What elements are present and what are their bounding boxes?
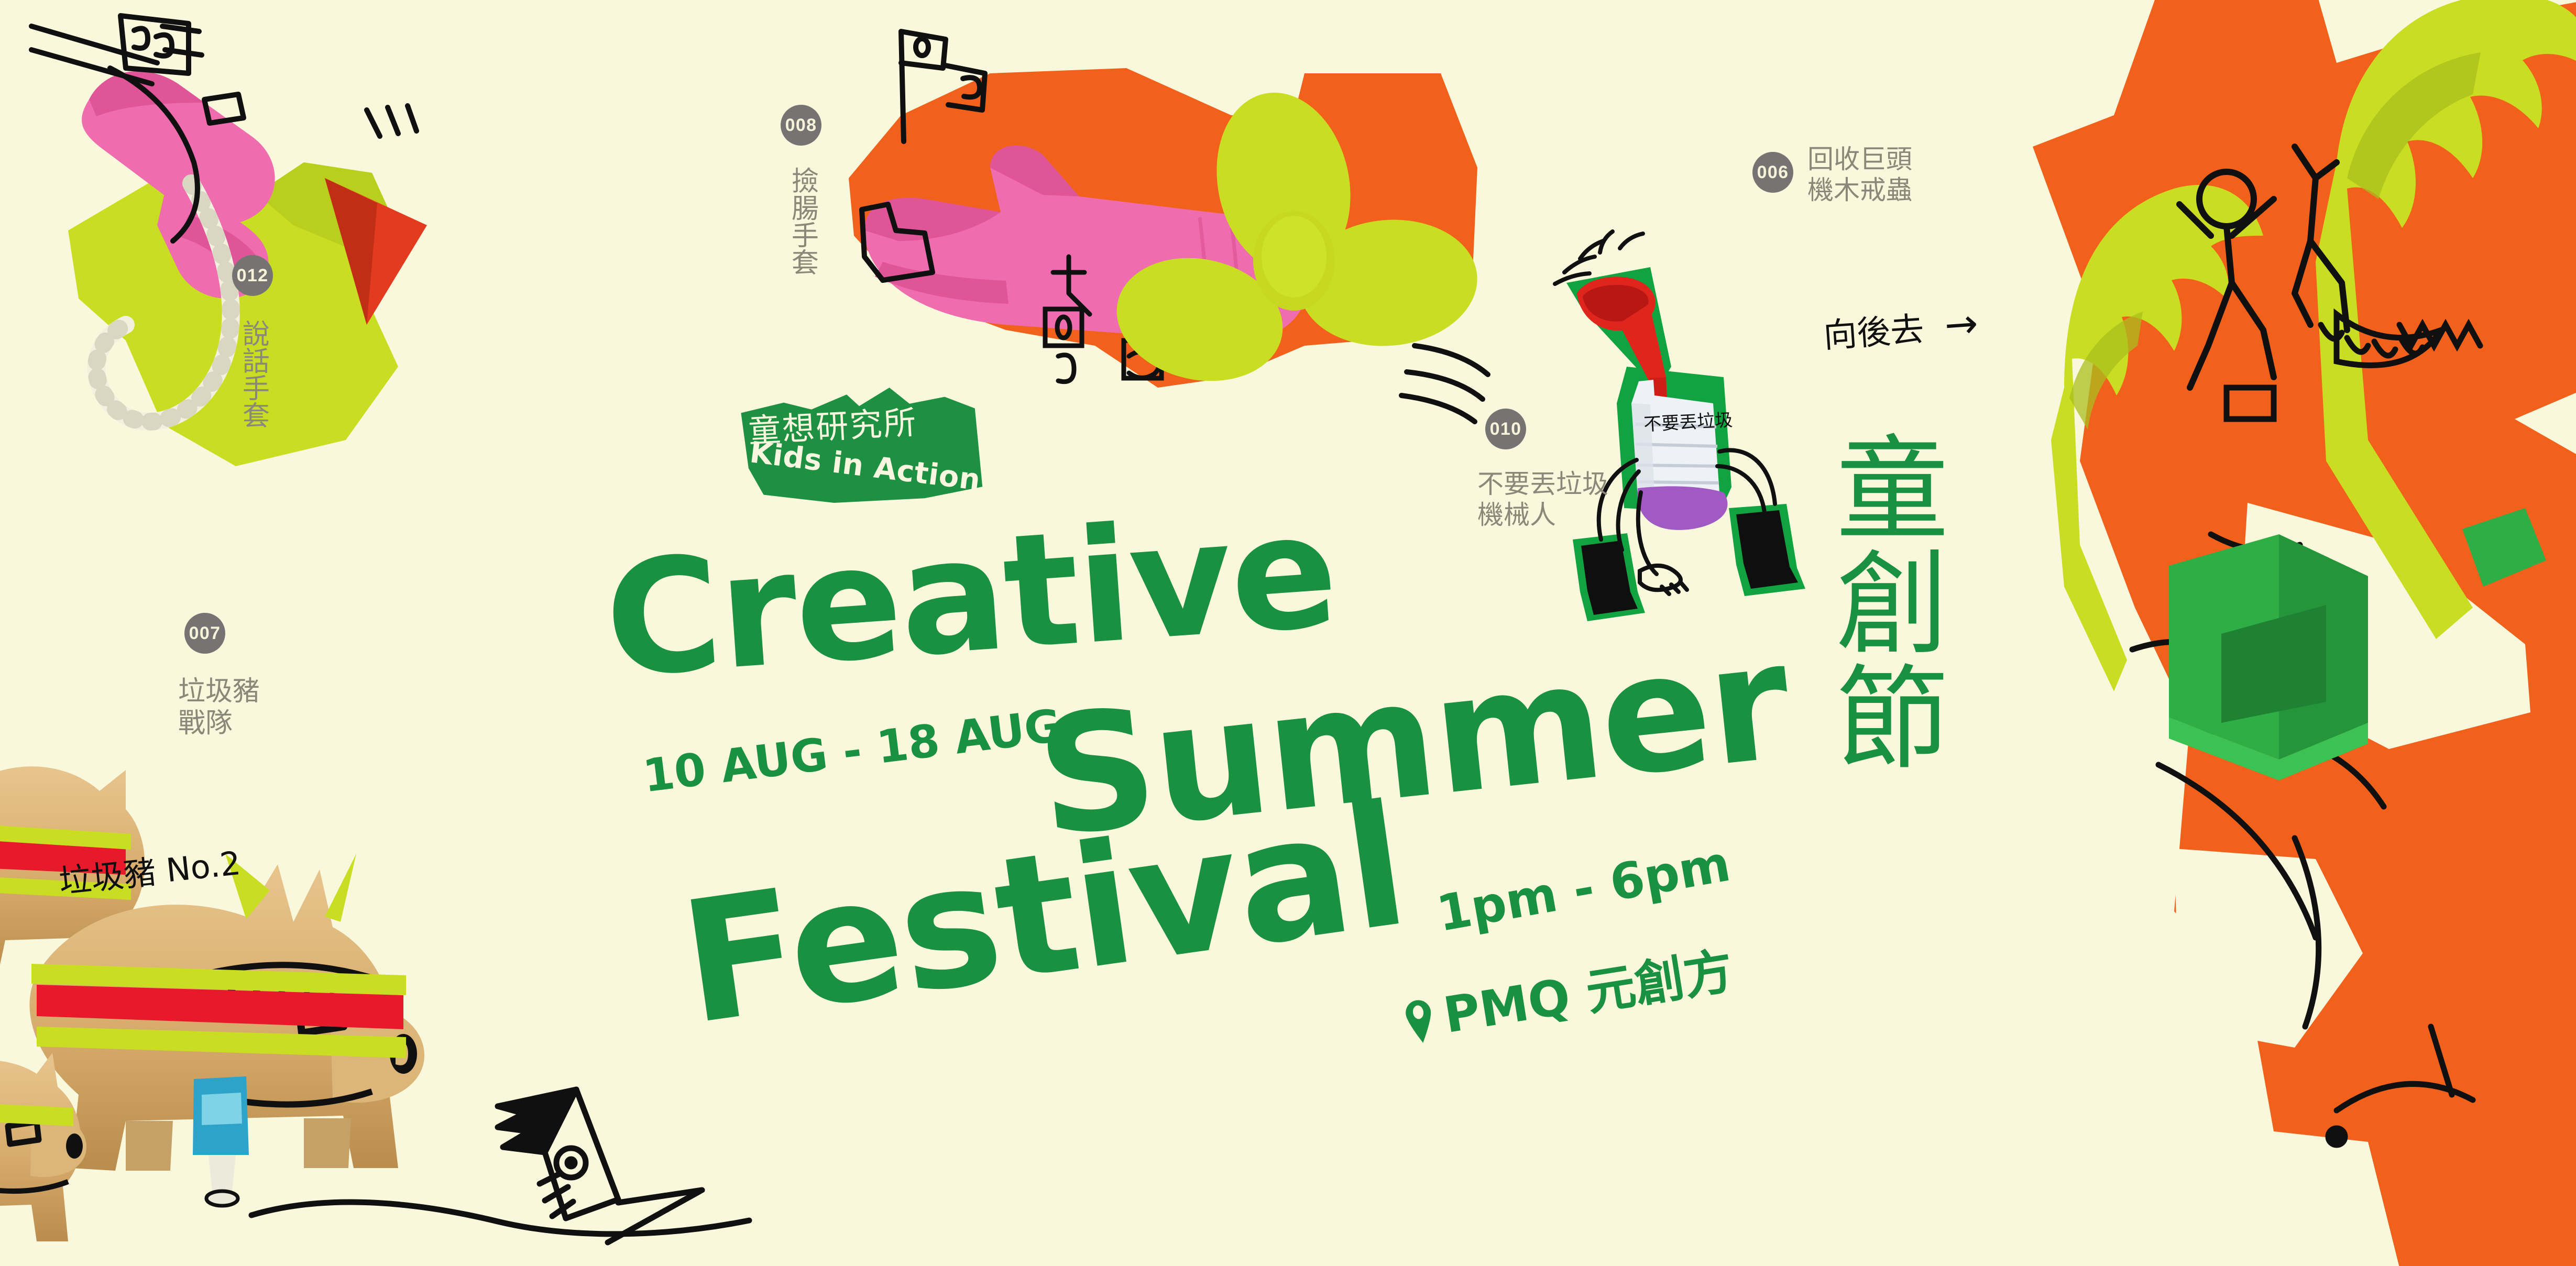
title-line-festival: Festival (674, 788, 1413, 1042)
annotation-label-006: 回收巨頭 機木戒蟲 (1807, 144, 1965, 206)
annotation-label-008: 撿腸手套 (786, 167, 818, 276)
green-birdhouse-icon (2169, 534, 2368, 780)
annotation-badge-006[interactable]: 006 (1752, 152, 1793, 193)
annotation-label-012: 說話手套 (237, 320, 269, 428)
vertical-title-text: 童創節 (1823, 430, 1942, 774)
pink-arm-with-fan-illustration (833, 10, 1493, 398)
annotation-label-007: 垃圾豬戰隊 (178, 676, 283, 740)
poster-canvas: 垃圾豬 No.2 垃圾豬 No.1 (0, 0, 2576, 1266)
dates-text: 10 AUG - 18 AUG (641, 705, 1064, 797)
bird-on-wire-illustration (251, 1079, 781, 1252)
time-text: 1pm - 6pm (1434, 842, 1734, 938)
annotation-badge-012[interactable]: 012 (232, 255, 273, 296)
pig-no1-text: 垃圾豬 No.1 (5, 1262, 208, 1266)
annotation-badge-010[interactable]: 010 (1485, 409, 1526, 449)
location-pin-icon (1402, 996, 1437, 1045)
direction-note: 向後去 → (1822, 299, 1979, 357)
annotation-label-010: 不要丟垃圾 機械人 (1477, 469, 1656, 531)
direction-arrow-icon: → (1943, 299, 1980, 348)
venue-text: PMQ 元創方 (1441, 949, 1736, 1039)
annotation-badge-008[interactable]: 008 (781, 105, 821, 146)
venue-line: PMQ 元創方 (1402, 949, 1736, 1045)
recycling-giant-illustration (2001, 0, 2576, 1266)
festival-logo-badge[interactable]: 童想研究所 Kids in Action (733, 388, 985, 503)
speaking-glove-illustration (31, 5, 639, 529)
direction-note-text: 向後去 (1822, 302, 1925, 357)
annotation-badge-007[interactable]: 007 (184, 613, 225, 654)
